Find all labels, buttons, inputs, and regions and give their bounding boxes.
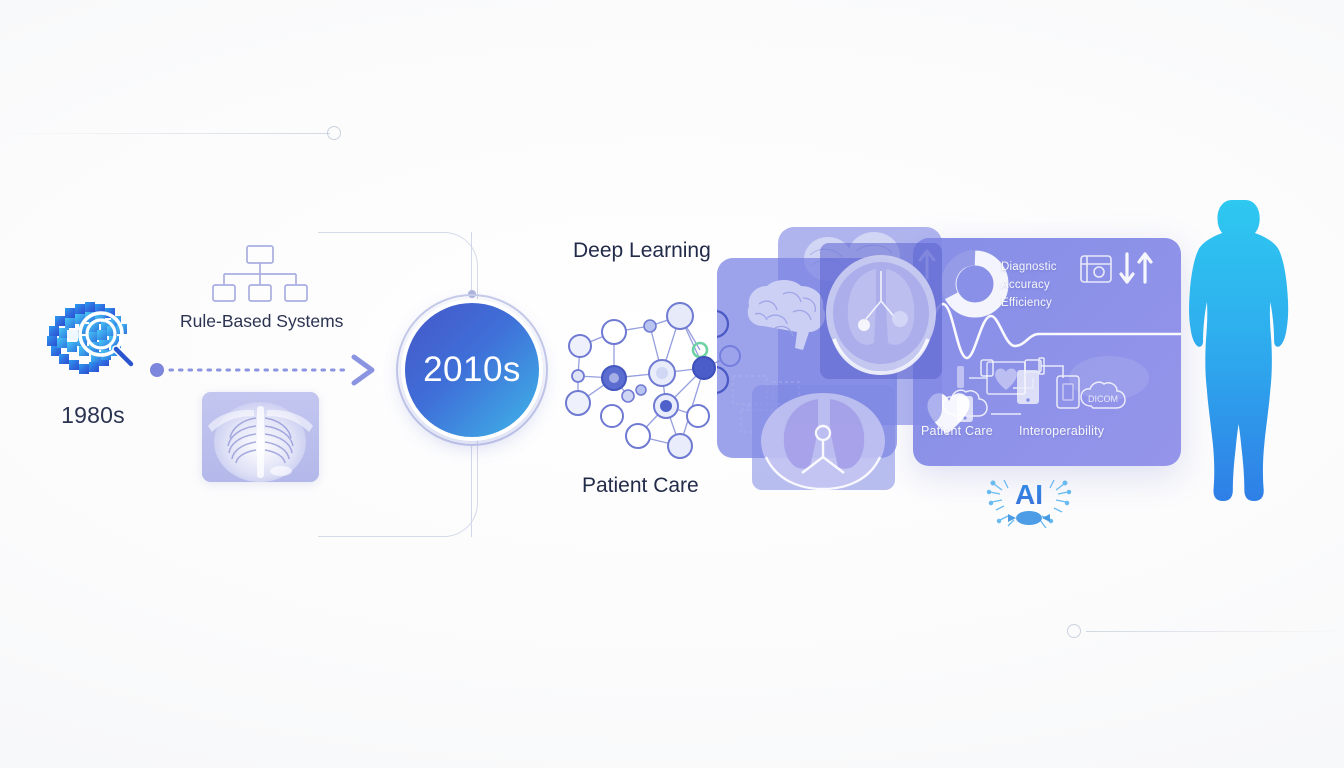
dicom-badge-text: DICOM bbox=[1088, 394, 1118, 404]
connector-line-top bbox=[471, 232, 472, 294]
era-2010s-milestone[interactable]: 2010s bbox=[396, 294, 548, 446]
lung-ct-scan-image bbox=[820, 243, 942, 379]
ai-logo-text: AI bbox=[1015, 479, 1043, 510]
metric-label-diagnostic: Diagnostic bbox=[1001, 260, 1057, 275]
hierarchy-tree-icon bbox=[209, 243, 311, 305]
interoperability-panel-label: Interoperability bbox=[1019, 424, 1104, 439]
decor-line-bottom-right bbox=[1086, 631, 1344, 632]
milestone-inner-circle: 2010s bbox=[405, 303, 539, 437]
ai-circuit-logo[interactable]: AI bbox=[986, 470, 1072, 536]
decor-line-top-left-endpoint bbox=[327, 126, 341, 140]
era-1980s-label: 1980s bbox=[28, 402, 158, 429]
metrics-panel[interactable]: DICOM Diagnostic Accuracy Efficiency Pat… bbox=[913, 238, 1181, 466]
decor-line-bottom-right-endpoint bbox=[1067, 624, 1081, 638]
deep-learning-title: Deep Learning bbox=[573, 239, 711, 263]
lung-ct-scan-secondary[interactable] bbox=[752, 385, 895, 490]
deep-learning-subtitle: Patient Care bbox=[582, 474, 699, 498]
lung-ct-scan-secondary-image bbox=[752, 385, 895, 490]
infographic-canvas: 1980s Rule-Based Systems bbox=[0, 0, 1344, 768]
decor-line-top-left bbox=[0, 133, 330, 134]
brain-magnifier-icon bbox=[41, 300, 145, 384]
lung-ct-scan[interactable] bbox=[820, 243, 942, 379]
rule-based-systems-label: Rule-Based Systems bbox=[180, 311, 340, 332]
metric-label-efficiency: Efficiency bbox=[1001, 296, 1052, 311]
metric-label-accuracy: Accuracy bbox=[1001, 278, 1050, 293]
era-1980s-group[interactable]: 1980s bbox=[28, 300, 158, 429]
rule-based-systems-group[interactable]: Rule-Based Systems bbox=[180, 243, 340, 332]
human-body-silhouette[interactable] bbox=[1188, 198, 1294, 508]
patient-care-panel-label: Patient Care bbox=[921, 424, 993, 439]
chest-xray-image bbox=[202, 392, 319, 482]
era-2010s-label: 2010s bbox=[423, 350, 521, 390]
chest-xray-thumbnail[interactable] bbox=[202, 392, 319, 482]
connector-line-bottom bbox=[471, 446, 472, 537]
